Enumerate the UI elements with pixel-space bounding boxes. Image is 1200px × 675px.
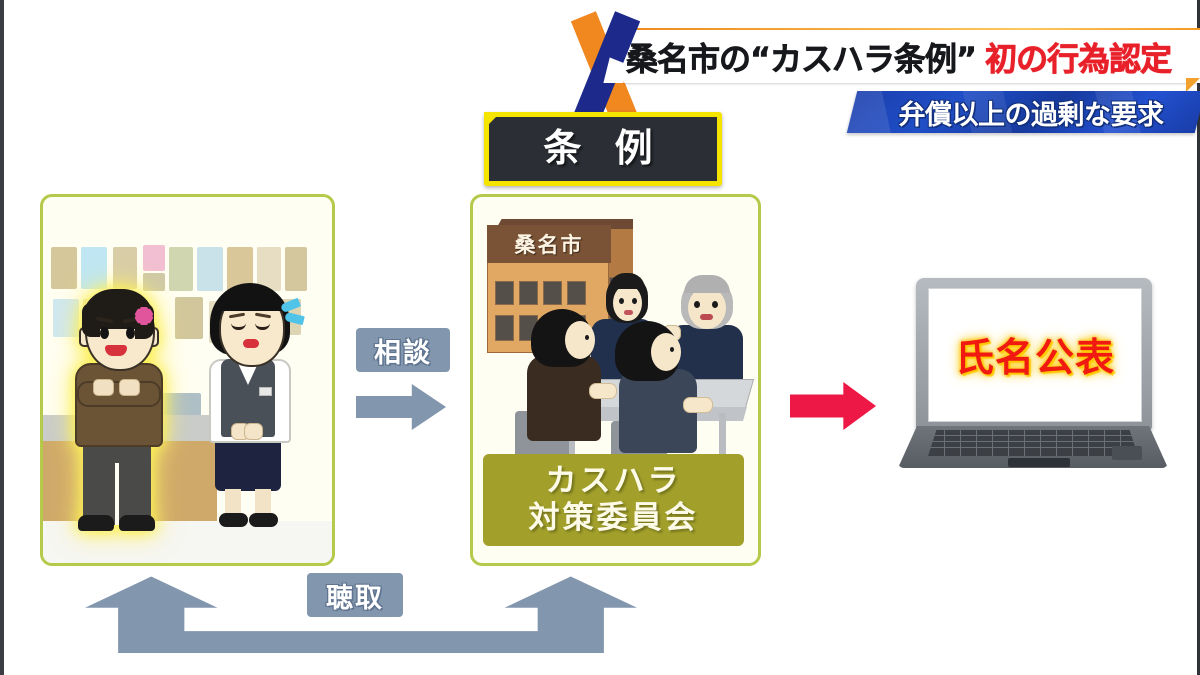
- laptop-trackpad: [1008, 458, 1070, 467]
- store-scene: [43, 197, 332, 563]
- laptop-keyboard: [928, 430, 1138, 456]
- publish-arrow-icon: [790, 382, 876, 430]
- consult-arrow-icon: [356, 384, 446, 430]
- caption-line-2: 対策委員会: [529, 500, 699, 537]
- title-main-text: 桑名市の“カスハラ条例”: [626, 34, 976, 80]
- caption-line-1: カスハラ: [546, 463, 682, 500]
- committee-scene: 桑名市: [473, 197, 758, 563]
- header-title: 桑名市の“カスハラ条例” 初の行為認定: [626, 32, 1200, 82]
- laptop-lid: 氏名公表: [916, 278, 1152, 430]
- panel-committee-scene: 桑名市: [470, 194, 761, 566]
- committee-caption: カスハラ 対策委員会: [483, 454, 744, 546]
- laptop-screen-text: 氏名公表: [929, 289, 1141, 421]
- hearing-arrow-label: 聴取: [307, 573, 403, 617]
- left-frame-bar: [0, 0, 4, 675]
- orange-triangle-icon: [1186, 78, 1200, 92]
- broadcast-graphic: 桑名市の“カスハラ条例” 初の行為認定 弁償以上の過剰な要求 条 例: [0, 0, 1200, 675]
- title-accent-text: 初の行為認定: [985, 34, 1171, 80]
- ordinance-badge-label: 条 例: [484, 112, 712, 176]
- laptop-side-pad: [1112, 446, 1142, 460]
- consult-arrow-label: 相談: [356, 328, 450, 372]
- panel-store-scene: [40, 194, 335, 566]
- anger-mark-icon: [135, 307, 153, 325]
- laptop-screen: 氏名公表: [928, 288, 1142, 422]
- laptop-illustration: 氏名公表: [898, 278, 1168, 473]
- clerk-figure: [195, 283, 299, 533]
- angry-customer-figure: [63, 287, 171, 537]
- sweat-drop-icon: [281, 301, 315, 327]
- building-sign-label: 桑名市: [487, 225, 611, 263]
- subtitle-text: 弁償以上の過剰な要求: [866, 93, 1196, 131]
